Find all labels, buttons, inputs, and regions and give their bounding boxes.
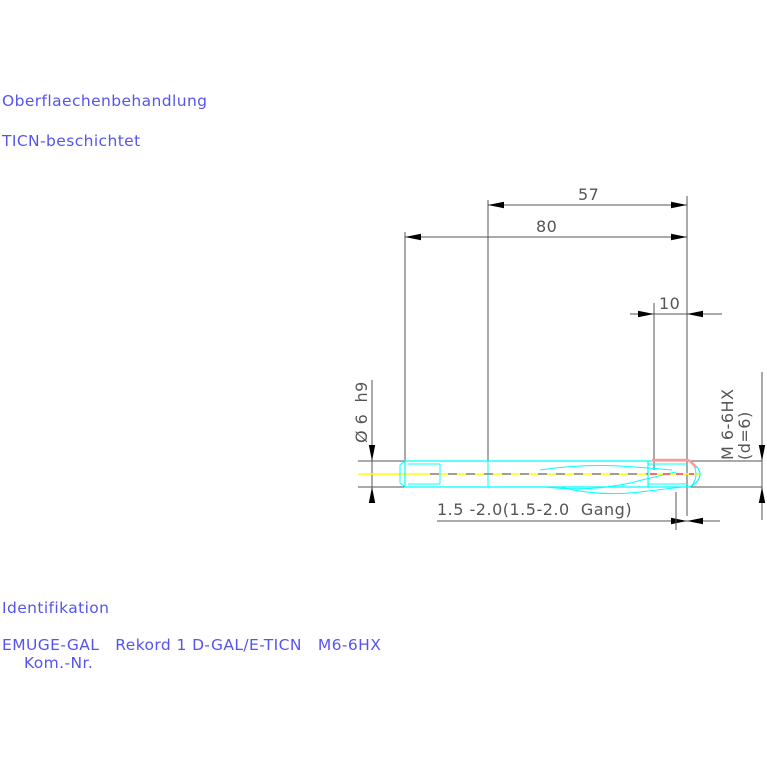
dimension-value-thread-spec-line-2: (d=6) xyxy=(735,411,754,460)
dimension-value-thread-reach: 57 xyxy=(578,185,599,204)
arrow-bottom-thread-spec xyxy=(759,487,765,503)
dimension-value-tip-length: 10 xyxy=(659,294,680,313)
surface-treatment-heading: Oberflaechenbehandlung xyxy=(2,92,207,110)
surface-treatment-value: TICN-beschichtet xyxy=(1,132,141,150)
cad-drawing-canvas: Oberflaechenbehandlung TICN-beschichtet … xyxy=(0,0,767,767)
cad-svg-root: Oberflaechenbehandlung TICN-beschichtet … xyxy=(0,0,767,767)
arrow-left-tip-length xyxy=(638,311,654,317)
identification-heading: Identifikation xyxy=(2,599,109,617)
dimension-value-overall-length: 80 xyxy=(536,217,557,236)
dimension-value-shank-diameter: Ø 6 h9 xyxy=(352,381,371,443)
arrow-left-thread-reach xyxy=(488,202,504,208)
arrow-right-thread-reach xyxy=(671,202,687,208)
arrow-right-tip-length xyxy=(687,311,703,317)
arrow-top-shank-diameter xyxy=(369,445,375,461)
arrow-right-overall-length xyxy=(671,234,687,240)
arrow-left-overall-length xyxy=(405,234,421,240)
arrow-bottom-shank-diameter xyxy=(369,487,375,503)
arrow-left-pitch-note xyxy=(671,518,687,524)
arrow-top-thread-spec xyxy=(759,445,765,461)
part-flute-lower-sweep xyxy=(560,487,682,494)
part-flute-upper-sweep xyxy=(540,466,672,471)
identification-line-2: Kom.-Nr. xyxy=(24,654,93,672)
arrow-right-pitch-note xyxy=(687,518,703,524)
identification-line-1: EMUGE-GAL Rekord 1 D-GAL/E-TICN M6-6HX xyxy=(2,636,381,654)
dimension-value-pitch-note: 1.5 -2.0(1.5-2.0 Gang) xyxy=(437,500,632,519)
